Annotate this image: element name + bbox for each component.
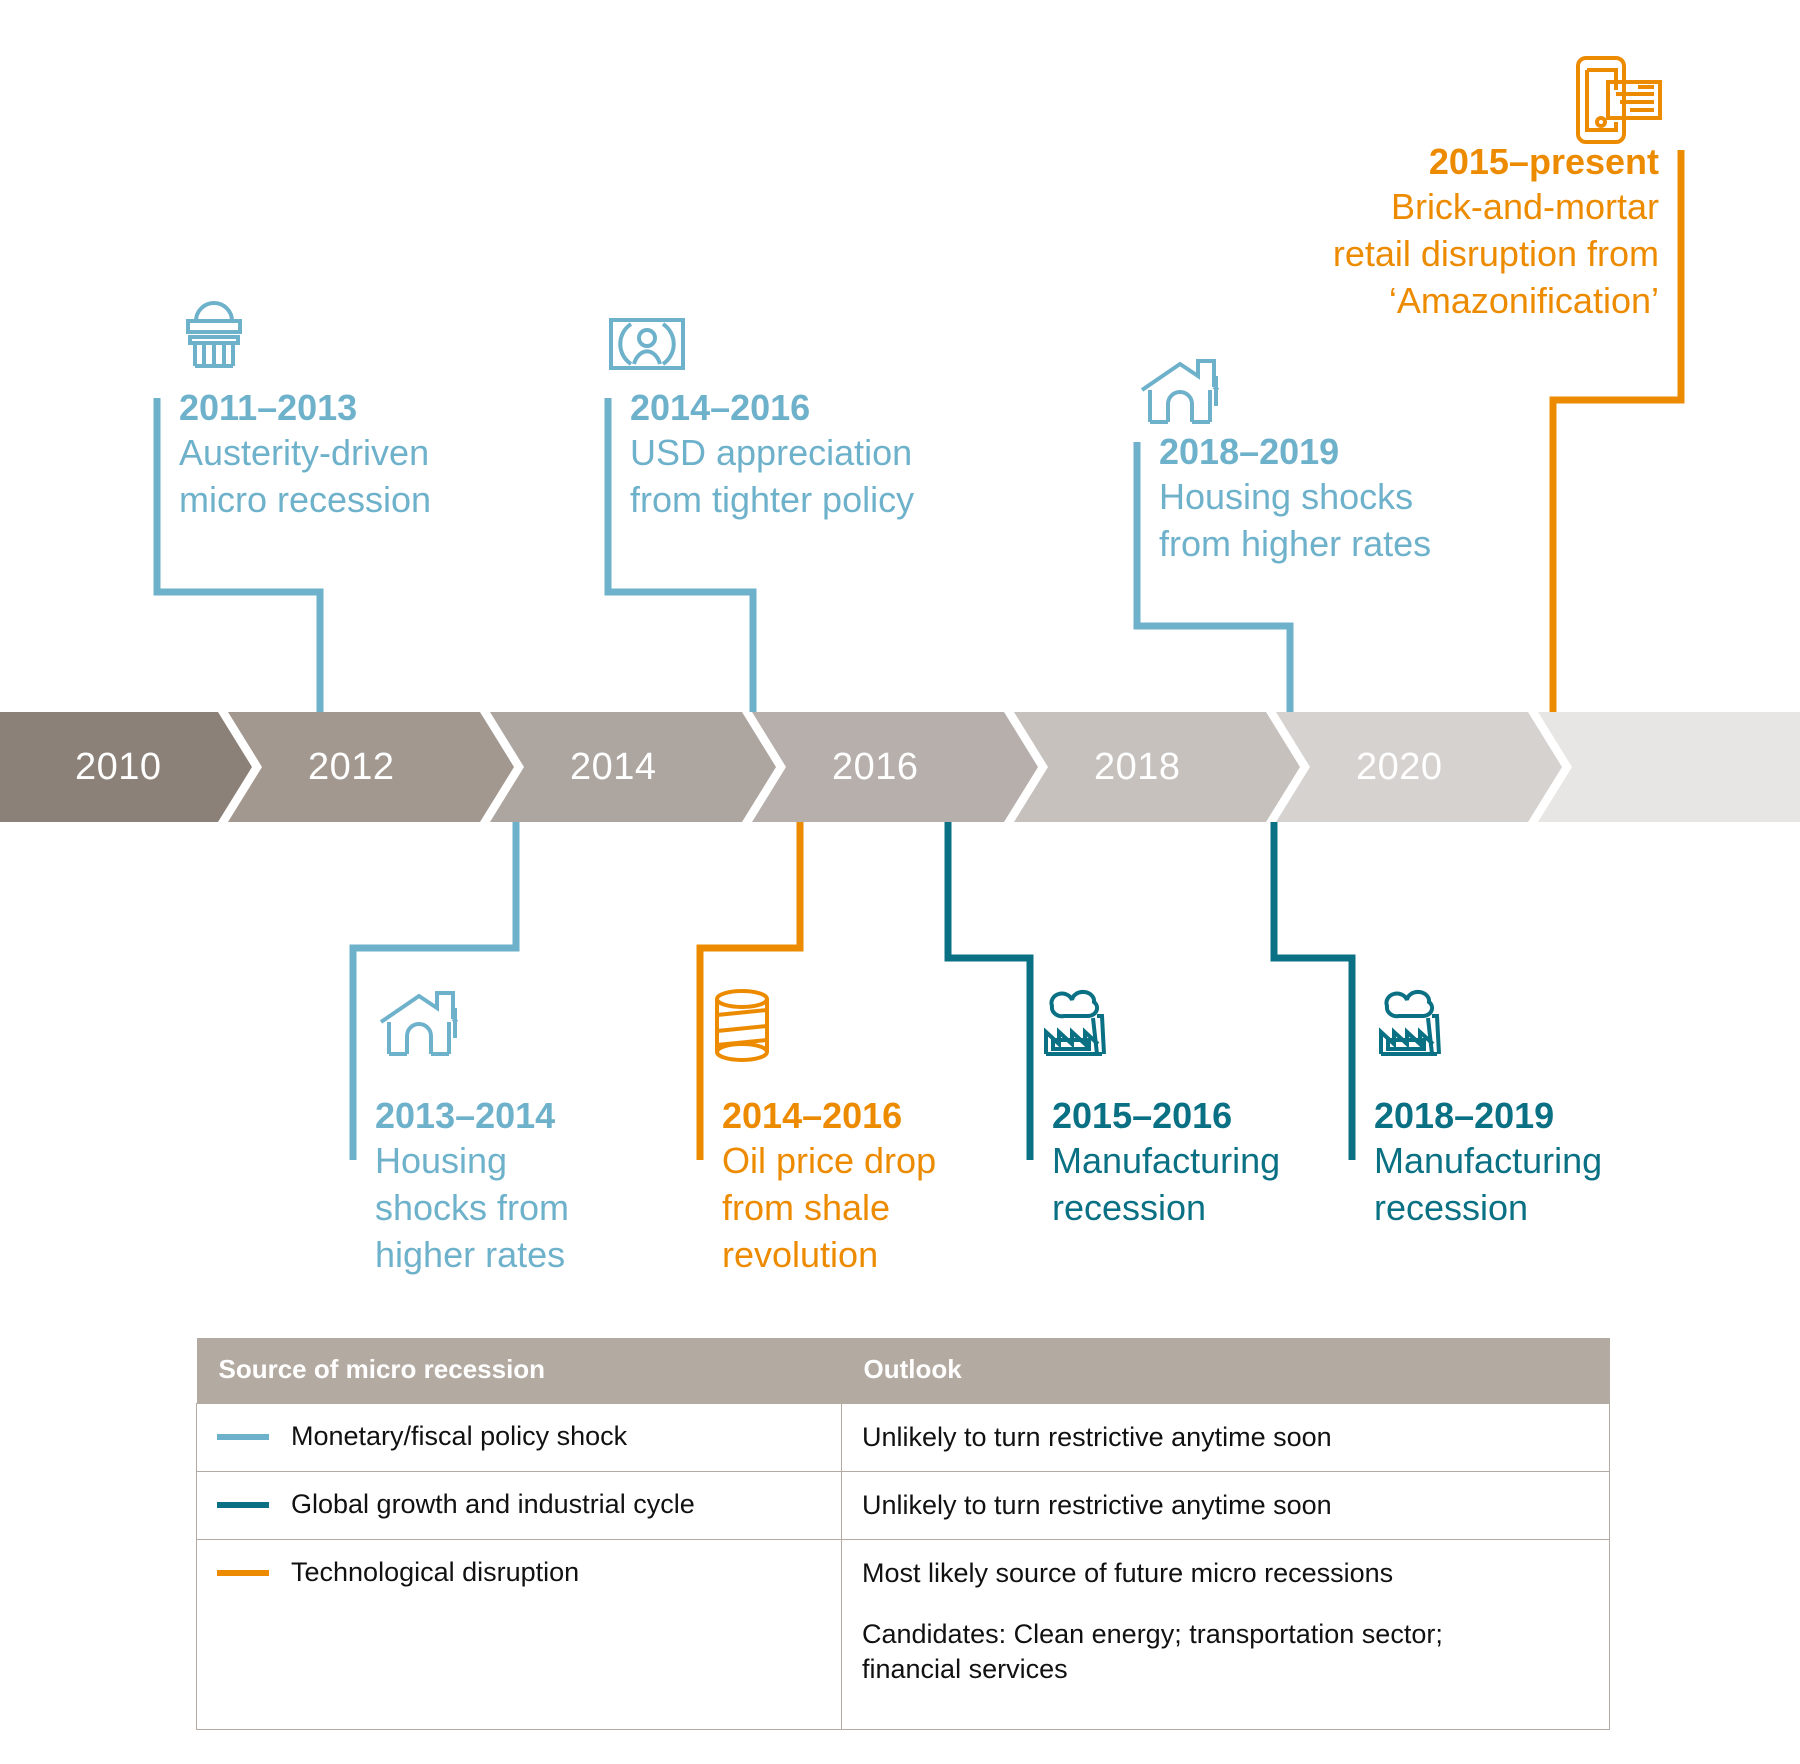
annotation-desc-line: from tighter policy: [630, 477, 914, 524]
timeline-year-label: 2018: [1094, 746, 1181, 789]
legend-swatch-global-growth: [217, 1502, 269, 1508]
timeline-year-label: 2010: [75, 746, 162, 789]
legend-outlook-text: Unlikely to turn restrictive anytime soo…: [862, 1420, 1589, 1455]
annotation-housing-2013: 2013–2014 Housing shocks from higher rat…: [353, 1094, 569, 1278]
annotation-desc-line: USD appreciation: [630, 430, 914, 477]
annotation-desc-line: retail disruption from: [1150, 231, 1659, 278]
annotation-period: 2018–2019: [1374, 1094, 1602, 1138]
annotation-desc-line: ‘Amazonification’: [1150, 278, 1659, 325]
tablet-commerce-icon: [1570, 50, 1666, 151]
annotation-desc-line: higher rates: [375, 1232, 569, 1279]
connector-manufacturing-2018: [1274, 822, 1352, 1160]
annotation-usd-appreciation: 2014–2016 USD appreciation from tighter …: [608, 386, 914, 524]
annotation-desc-line: Housing shocks: [1159, 474, 1431, 521]
legend-source-label: Monetary/fiscal policy shock: [291, 1420, 627, 1454]
oil-barrel-icon: [713, 988, 779, 1069]
annotation-desc-line: Austerity-driven: [179, 430, 431, 477]
legend-swatch-tech-disruption: [217, 1570, 269, 1576]
annotation-desc-line: Manufacturing: [1374, 1138, 1602, 1185]
timeline-segment-2014: 2014: [490, 712, 776, 822]
house-icon: [377, 988, 461, 1065]
annotation-desc-line: recession: [1374, 1185, 1602, 1232]
timeline-year-label: 2012: [308, 746, 395, 789]
connector-manufacturing-2015: [948, 822, 1030, 1160]
legend-outlook-cell: Unlikely to turn restrictive anytime soo…: [842, 1404, 1610, 1472]
capitol-building-icon: [182, 300, 246, 373]
annotation-desc-line: micro recession: [179, 477, 431, 524]
annotation-period: 2011–2013: [179, 386, 431, 430]
legend-row: Technological disruption Most likely sou…: [197, 1540, 1610, 1730]
annotation-manufacturing-2015: 2015–2016 Manufacturing recession: [1030, 1094, 1280, 1232]
legend-header-outlook: Outlook: [842, 1338, 1610, 1404]
legend-source-cell: Technological disruption: [197, 1540, 842, 1730]
annotation-period: 2014–2016: [722, 1094, 936, 1138]
annotation-desc-line: shocks from: [375, 1185, 569, 1232]
legend-outlook-cell: Unlikely to turn restrictive anytime soo…: [842, 1472, 1610, 1540]
banknote-icon: [608, 316, 686, 377]
annotation-desc-line: revolution: [722, 1232, 936, 1279]
annotation-period: 2014–2016: [630, 386, 914, 430]
timeline-bar: 2010 2012 2014 2016 2018 2020: [0, 712, 1800, 822]
annotation-desc-line: Brick-and-mortar: [1150, 184, 1659, 231]
legend-source-label: Global growth and industrial cycle: [291, 1488, 695, 1522]
legend-row: Monetary/fiscal policy shock Unlikely to…: [197, 1404, 1610, 1472]
timeline-year-label: 2014: [570, 746, 657, 789]
legend-source-cell: Monetary/fiscal policy shock: [197, 1404, 842, 1472]
timeline-segment-2016: 2016: [752, 712, 1038, 822]
legend-table: Source of micro recession Outlook Moneta…: [196, 1338, 1610, 1730]
annotation-period: 2018–2019: [1159, 430, 1431, 474]
house-icon: [1138, 356, 1222, 433]
annotation-period: 2015–present: [1150, 140, 1659, 184]
timeline-segment-2012: 2012: [228, 712, 514, 822]
legend-source-cell: Global growth and industrial cycle: [197, 1472, 842, 1540]
timeline-segment-end: [1538, 712, 1800, 822]
annotation-period: 2015–2016: [1052, 1094, 1280, 1138]
annotation-desc-line: Manufacturing: [1052, 1138, 1280, 1185]
annotation-desc-line: recession: [1052, 1185, 1280, 1232]
annotation-desc-line: Oil price drop: [722, 1138, 936, 1185]
annotation-desc-line: from shale: [722, 1185, 936, 1232]
annotation-desc-line: Housing: [375, 1138, 569, 1185]
legend-header-source: Source of micro recession: [197, 1338, 842, 1404]
timeline-year-label: 2016: [832, 746, 919, 789]
timeline-segment-2018: 2018: [1014, 712, 1300, 822]
annotation-housing-2018: 2018–2019 Housing shocks from higher rat…: [1137, 430, 1431, 568]
factory-icon: [1040, 988, 1126, 1069]
legend-outlook-candidates: Candidates: Clean energy; transportation…: [862, 1617, 1462, 1687]
annotation-austerity: 2011–2013 Austerity-driven micro recessi…: [157, 386, 431, 524]
legend-row: Global growth and industrial cycle Unlik…: [197, 1472, 1610, 1540]
timeline-segment-2010: 2010: [0, 712, 252, 822]
annotation-manufacturing-2018: 2018–2019 Manufacturing recession: [1352, 1094, 1602, 1232]
annotation-period: 2013–2014: [375, 1094, 569, 1138]
legend-source-label: Technological disruption: [291, 1556, 579, 1590]
timeline-segment-2020: 2020: [1276, 712, 1562, 822]
legend-outlook-text: Unlikely to turn restrictive anytime soo…: [862, 1488, 1589, 1523]
annotation-desc-line: from higher rates: [1159, 521, 1431, 568]
factory-icon: [1375, 988, 1461, 1069]
timeline-year-label: 2020: [1356, 746, 1443, 789]
legend-header-row: Source of micro recession Outlook: [197, 1338, 1610, 1404]
annotation-amazonification: 2015–present Brick-and-mortar retail dis…: [1150, 140, 1681, 324]
legend-outlook-cell: Most likely source of future micro reces…: [842, 1540, 1610, 1730]
legend-swatch-monetary: [217, 1434, 269, 1440]
annotation-oil-price-drop: 2014–2016 Oil price drop from shale revo…: [700, 1094, 936, 1278]
legend-outlook-text: Most likely source of future micro reces…: [862, 1556, 1589, 1591]
